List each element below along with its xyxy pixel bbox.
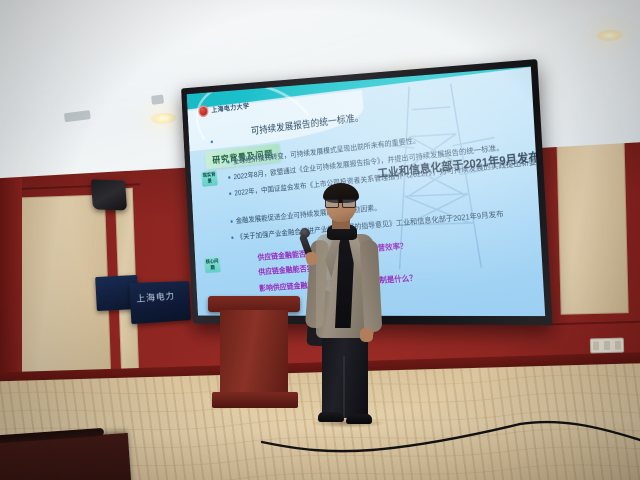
presenter-right-hand: [360, 328, 373, 342]
podium-monitor-text: 上海电力: [136, 289, 176, 305]
lectern-column: [220, 310, 288, 396]
presenter-shoe-right: [346, 414, 372, 424]
eyeglasses-icon: [325, 199, 356, 206]
screenshot-root: 上海电力大学 研究背景及问题 可持续发展报告的统一标准。 全球经济模式转变，可持…: [0, 0, 640, 480]
presenter-right-arm: [360, 240, 383, 333]
outlet-socket-icon: [615, 341, 621, 350]
outlet-socket-icon: [604, 341, 610, 350]
wall-speaker-left: [91, 179, 127, 210]
wall-outlet-plate[interactable]: [590, 338, 624, 354]
slide-badge-context: 现实背景: [201, 170, 218, 187]
presenter-shoe-left: [318, 412, 344, 422]
eyeglass-lens-right: [342, 199, 356, 208]
presenter-trouser-seam: [343, 356, 345, 418]
podium-monitor: 上海电力: [129, 281, 191, 324]
eyeglass-lens-left: [325, 199, 339, 208]
presenter-trousers: [322, 332, 368, 418]
lectern-base: [212, 392, 298, 408]
presenter: [296, 186, 400, 422]
ceiling-vent-small: [151, 94, 164, 104]
slide-badge-core-question: 核心问题: [204, 257, 221, 273]
outlet-socket-icon: [593, 341, 599, 350]
slide-title-dot-icon: [211, 140, 213, 143]
university-emblem-icon: [198, 104, 209, 117]
lectern: [214, 296, 296, 406]
